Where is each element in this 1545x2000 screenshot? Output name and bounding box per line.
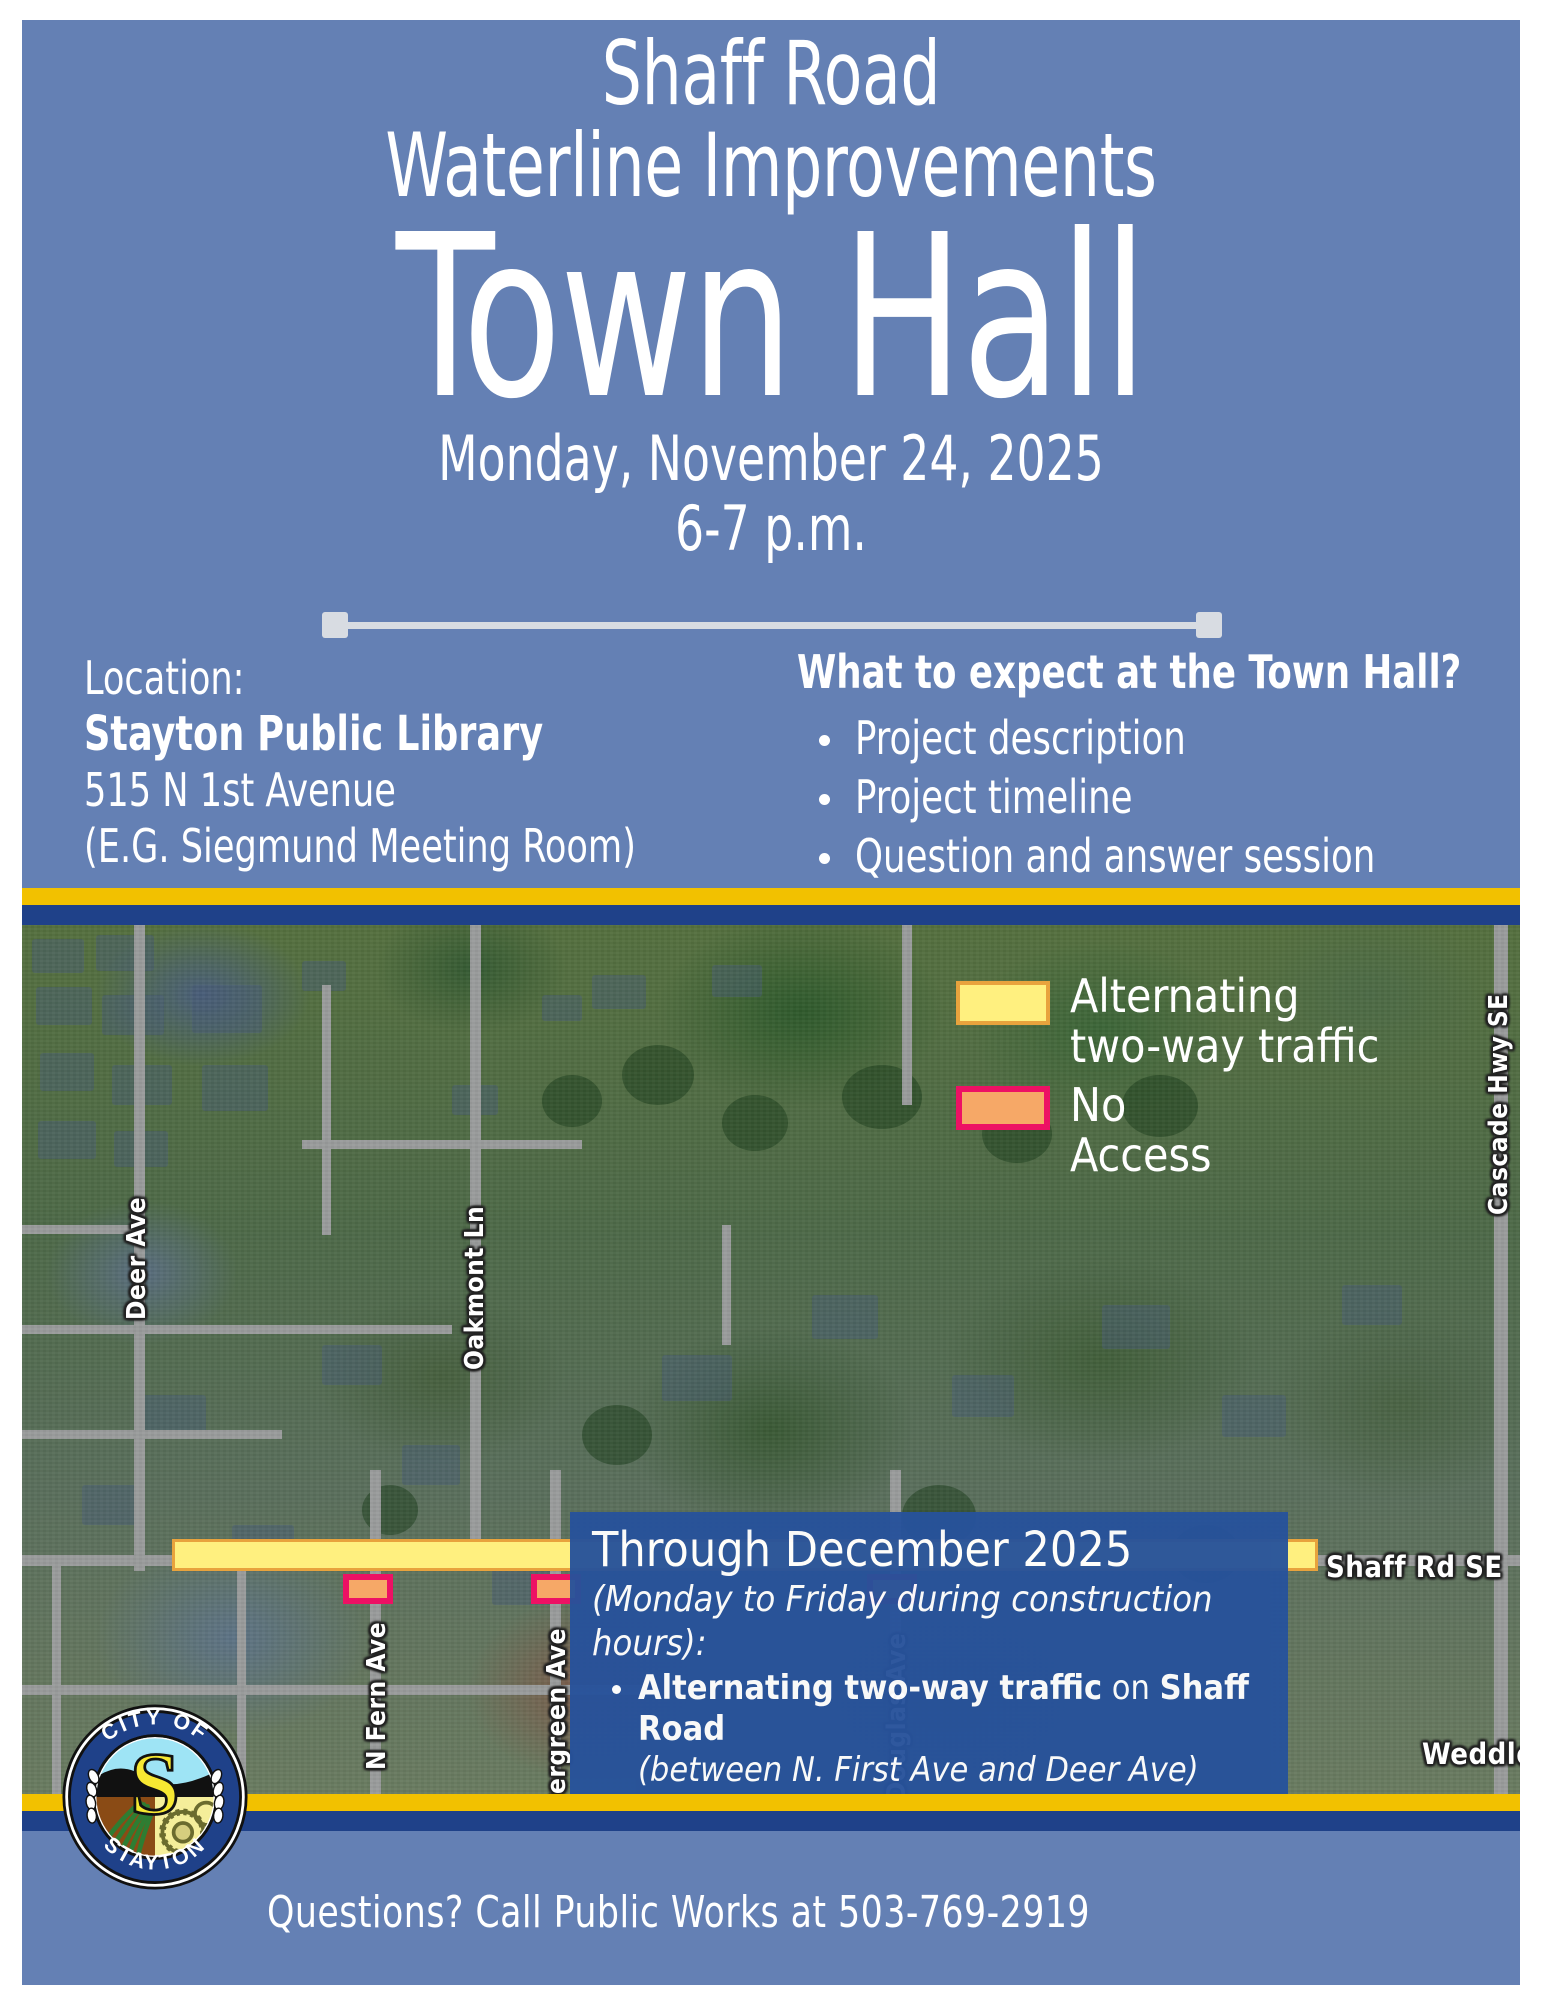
project-map: Deer Ave Oakmont Ln Cascade Hwy SE Shaff… xyxy=(22,925,1520,1794)
event-date: Monday, November 24, 2025 xyxy=(157,424,1385,494)
divider-cap-right xyxy=(1196,612,1222,638)
title-block: Shaff Road Waterline Improvements Town H… xyxy=(22,28,1520,564)
infobox-heading: Through December 2025 xyxy=(592,1522,1280,1578)
infobox-b1-d: (between N. First Ave and Deer Ave) xyxy=(638,1750,1199,1790)
location-label: Location: xyxy=(84,650,637,706)
expect-block: What to expect at the Town Hall? Project… xyxy=(797,645,1497,886)
expect-item-2: Project timeline xyxy=(855,768,1133,827)
infobox-b1-a: Alternating two-way traffic xyxy=(638,1668,1102,1708)
list-item: Project description xyxy=(797,709,1497,768)
list-item: Project timeline xyxy=(797,768,1497,827)
seal-letter: S xyxy=(130,1735,180,1834)
street-label-deer-ave: Deer Ave xyxy=(122,1197,152,1320)
schedule-info-box: Through December 2025 (Monday to Friday … xyxy=(570,1512,1288,1794)
footer-contact-text: Questions? Call Public Works at 503-769-… xyxy=(267,1888,1090,1938)
legend-alternating-line-2: two-way traffic xyxy=(1070,1019,1379,1073)
expect-item-3: Question and answer session xyxy=(855,827,1375,886)
expect-item-1: Project description xyxy=(855,709,1186,768)
navy-divider-top xyxy=(22,905,1520,925)
street-label-shaff-rd-se: Shaff Rd SE xyxy=(1326,1550,1503,1584)
legend-swatch-no-access xyxy=(956,1086,1050,1130)
city-of-stayton-seal: S CITY OF STAYTON xyxy=(62,1704,248,1890)
divider-rule xyxy=(322,612,1222,638)
no-access-marker-fern xyxy=(343,1574,393,1604)
legend-alternating-line-1: Alternating xyxy=(1070,969,1300,1023)
legend-swatch-alternating xyxy=(956,981,1050,1025)
legend-text-no-access: No Access xyxy=(1070,1080,1212,1180)
street-label-n-evergreen-ave: N Evergreen Ave xyxy=(542,1628,572,1794)
location-address: 515 N 1st Avenue xyxy=(84,762,637,818)
street-label-oakmont-ln: Oakmont Ln xyxy=(460,1206,490,1370)
legend-text-alternating: Alternating two-way traffic xyxy=(1070,971,1490,1071)
infobox-list: Alternating two-way traffic on Shaff Roa… xyxy=(592,1668,1280,1794)
list-item: Alternating two-way traffic on Shaff Roa… xyxy=(592,1668,1280,1791)
expect-list: Project description Project timeline Que… xyxy=(797,709,1497,886)
title-main: Town Hall xyxy=(172,212,1370,424)
infobox-b1-b: on xyxy=(1102,1668,1160,1708)
header-section: Shaff Road Waterline Improvements Town H… xyxy=(22,20,1520,888)
flyer-page: Shaff Road Waterline Improvements Town H… xyxy=(22,20,1520,1985)
infobox-subheading: (Monday to Friday during construction ho… xyxy=(592,1578,1280,1666)
location-block: Location: Stayton Public Library 515 N 1… xyxy=(84,650,734,874)
event-time: 6-7 p.m. xyxy=(157,494,1385,564)
location-room: (E.G. Siegmund Meeting Room) xyxy=(84,818,637,874)
list-item: Question and answer session xyxy=(797,827,1497,886)
divider-bar xyxy=(322,622,1222,629)
expect-heading: What to expect at the Town Hall? xyxy=(797,645,1399,699)
seal-icon: S CITY OF STAYTON xyxy=(62,1704,248,1890)
street-label-n-fern-ave: N Fern Ave xyxy=(362,1622,392,1770)
title-line-1: Shaff Road xyxy=(172,28,1370,120)
gold-divider-top xyxy=(22,888,1520,905)
street-label-weddle: Weddle xyxy=(1422,1737,1520,1771)
location-venue: Stayton Public Library xyxy=(84,706,637,762)
